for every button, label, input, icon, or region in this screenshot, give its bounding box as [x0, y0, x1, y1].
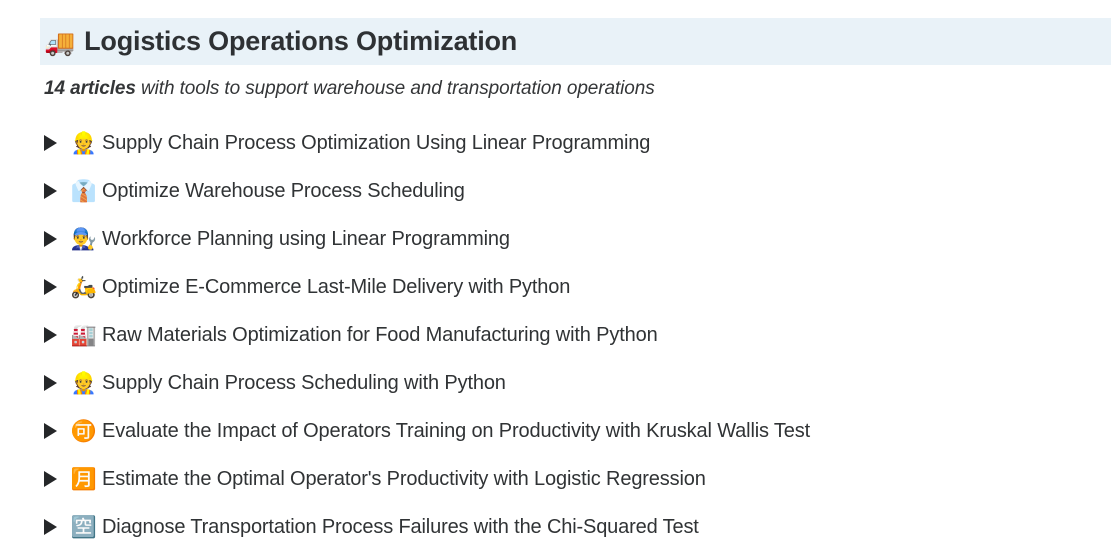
necktie-emoji: 👔 [66, 181, 102, 202]
article-row-8[interactable]: 🈷️ Estimate the Optimal Operator's Produ… [44, 455, 1111, 503]
japanese-acceptable-button-emoji: 🉑 [66, 421, 102, 442]
article-row-4[interactable]: 🛵 Optimize E-Commerce Last-Mile Delivery… [44, 263, 1111, 311]
article-title[interactable]: Supply Chain Process Optimization Using … [102, 132, 650, 155]
expand-triangle-icon[interactable] [44, 231, 66, 247]
article-title[interactable]: Optimize Warehouse Process Scheduling [102, 180, 465, 203]
article-list: 👷 Supply Chain Process Optimization Usin… [44, 119, 1111, 551]
page-title: Logistics Operations Optimization [84, 26, 517, 57]
article-row-1[interactable]: 👷 Supply Chain Process Optimization Usin… [44, 119, 1111, 167]
section-header: 🚚 Logistics Operations Optimization [40, 18, 1111, 65]
article-row-7[interactable]: 🉑 Evaluate the Impact of Operators Train… [44, 407, 1111, 455]
article-title[interactable]: Raw Materials Optimization for Food Manu… [102, 324, 658, 347]
expand-triangle-icon[interactable] [44, 471, 66, 487]
expand-triangle-icon[interactable] [44, 135, 66, 151]
article-row-9[interactable]: 🈳 Diagnose Transportation Process Failur… [44, 503, 1111, 551]
expand-triangle-icon[interactable] [44, 423, 66, 439]
article-title[interactable]: Diagnose Transportation Process Failures… [102, 516, 699, 539]
factory-emoji: 🏭 [66, 325, 102, 346]
article-title[interactable]: Evaluate the Impact of Operators Trainin… [102, 420, 810, 443]
page-root: 🚚 Logistics Operations Optimization 14 a… [0, 0, 1111, 540]
article-title[interactable]: Workforce Planning using Linear Programm… [102, 228, 510, 251]
article-row-2[interactable]: 👔 Optimize Warehouse Process Scheduling [44, 167, 1111, 215]
expand-triangle-icon[interactable] [44, 327, 66, 343]
article-title[interactable]: Supply Chain Process Scheduling with Pyt… [102, 372, 506, 395]
man-mechanic-emoji: 👨‍🔧 [66, 229, 102, 250]
article-count-description: with tools to support warehouse and tran… [136, 78, 655, 99]
japanese-monthly-amount-button-emoji: 🈷️ [66, 469, 102, 490]
construction-worker-emoji: 👷 [66, 133, 102, 154]
motor-scooter-emoji: 🛵 [66, 277, 102, 298]
article-count: 14 articles [44, 78, 136, 99]
expand-triangle-icon[interactable] [44, 183, 66, 199]
article-count-summary: 14 articles with tools to support wareho… [44, 78, 655, 100]
expand-triangle-icon[interactable] [44, 519, 66, 535]
japanese-vacancy-button-emoji: 🈳 [66, 517, 102, 538]
expand-triangle-icon[interactable] [44, 375, 66, 391]
expand-triangle-icon[interactable] [44, 279, 66, 295]
article-title[interactable]: Estimate the Optimal Operator's Producti… [102, 468, 706, 491]
construction-worker-emoji: 👷 [66, 373, 102, 394]
delivery-truck-icon: 🚚 [44, 30, 75, 55]
article-row-5[interactable]: 🏭 Raw Materials Optimization for Food Ma… [44, 311, 1111, 359]
article-title[interactable]: Optimize E-Commerce Last-Mile Delivery w… [102, 276, 570, 299]
article-row-3[interactable]: 👨‍🔧 Workforce Planning using Linear Prog… [44, 215, 1111, 263]
article-row-6[interactable]: 👷 Supply Chain Process Scheduling with P… [44, 359, 1111, 407]
